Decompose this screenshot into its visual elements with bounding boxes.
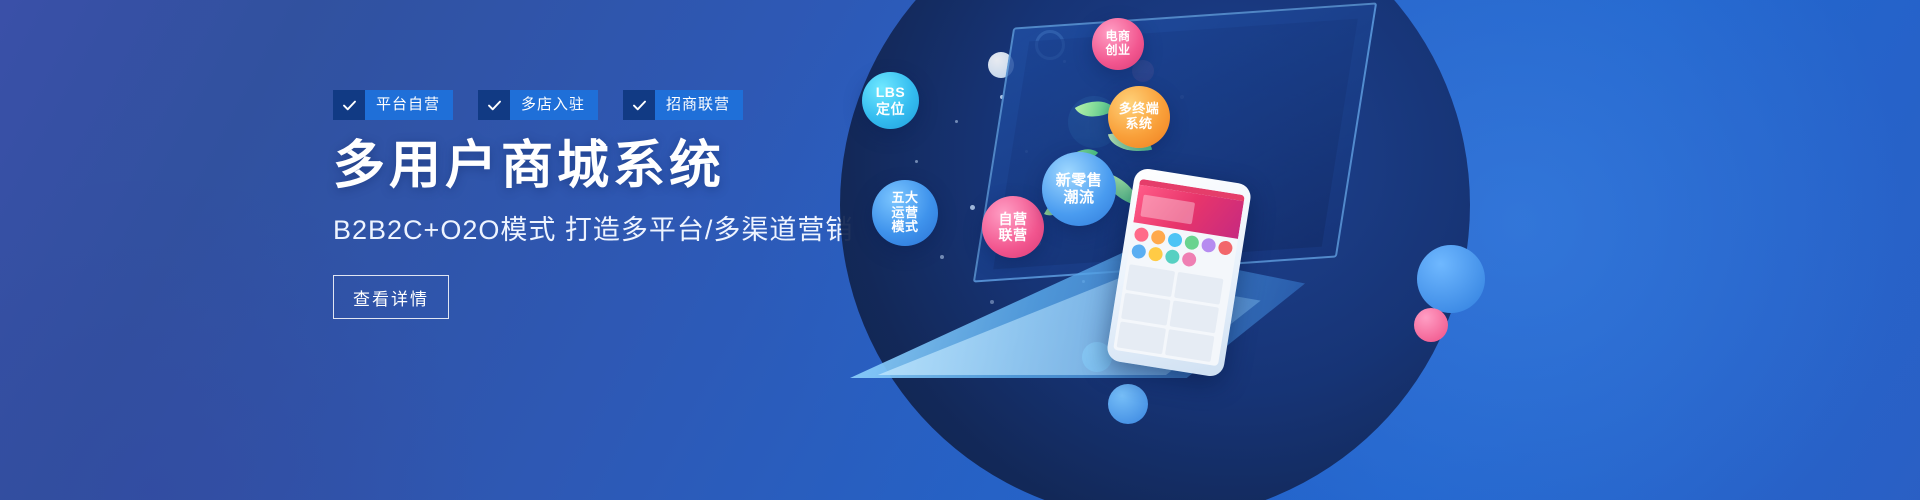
bubble-new-retail-trend: 新零售 潮流 xyxy=(1042,152,1116,226)
feature-tag-label: 多店入驻 xyxy=(510,90,598,120)
page-subtitle: B2B2C+O2O模式 打造多平台/多渠道营销 xyxy=(333,208,853,247)
bubble-lbs-text: LBS 定位 xyxy=(876,84,906,116)
check-icon xyxy=(478,90,510,120)
feature-tag-list: 平台自营 多店入驻 招商联营 xyxy=(333,90,743,120)
decor-orb-pink-right xyxy=(1414,308,1448,342)
decor-orb-blue-bottom xyxy=(1108,384,1148,424)
feature-tag-merchant-alliance[interactable]: 招商联营 xyxy=(623,90,743,120)
bubble-lbs: LBS 定位 xyxy=(862,72,919,129)
bubble-ecommerce-startup: 电商 创业 xyxy=(1092,18,1144,70)
check-icon xyxy=(623,90,655,120)
feature-tag-multi-store[interactable]: 多店入驻 xyxy=(478,90,598,120)
bubble-new-retail-text: 新零售 潮流 xyxy=(1056,172,1103,207)
bubble-multi-terminal-system: 多终端 系统 xyxy=(1108,86,1170,148)
feature-tag-platform-self-operated[interactable]: 平台自营 xyxy=(333,90,453,120)
bubble-self-and-union-operation: 自营 联营 xyxy=(982,196,1044,258)
phone-screen xyxy=(1113,179,1245,366)
phone-product-grid xyxy=(1113,261,1232,366)
page-title: 多用户商城系统 xyxy=(333,137,725,197)
check-icon xyxy=(333,90,365,120)
feature-tag-label: 招商联营 xyxy=(655,90,743,120)
view-details-button[interactable]: 查看详情 xyxy=(333,275,449,319)
bubble-ecommerce-startup-text: 电商 创业 xyxy=(1105,30,1130,58)
hero-banner: 平台自营 多店入驻 招商联营 多用户商城系统 B2B xyxy=(0,0,1920,500)
bubble-five-operating-modes: 五大 运营 模式 xyxy=(872,180,938,246)
bubble-five-ops-text: 五大 运营 模式 xyxy=(891,191,918,236)
feature-tag-label: 平台自营 xyxy=(365,90,453,120)
hero-illustration: LBS 定位 五大 运营 模式 自营 联营 新零售 潮流 xyxy=(820,0,1920,500)
bubble-self-union-text: 自营 联营 xyxy=(999,211,1028,243)
decor-orb-blue-right xyxy=(1417,245,1485,313)
bubble-multi-terminal-text: 多终端 系统 xyxy=(1119,102,1160,132)
